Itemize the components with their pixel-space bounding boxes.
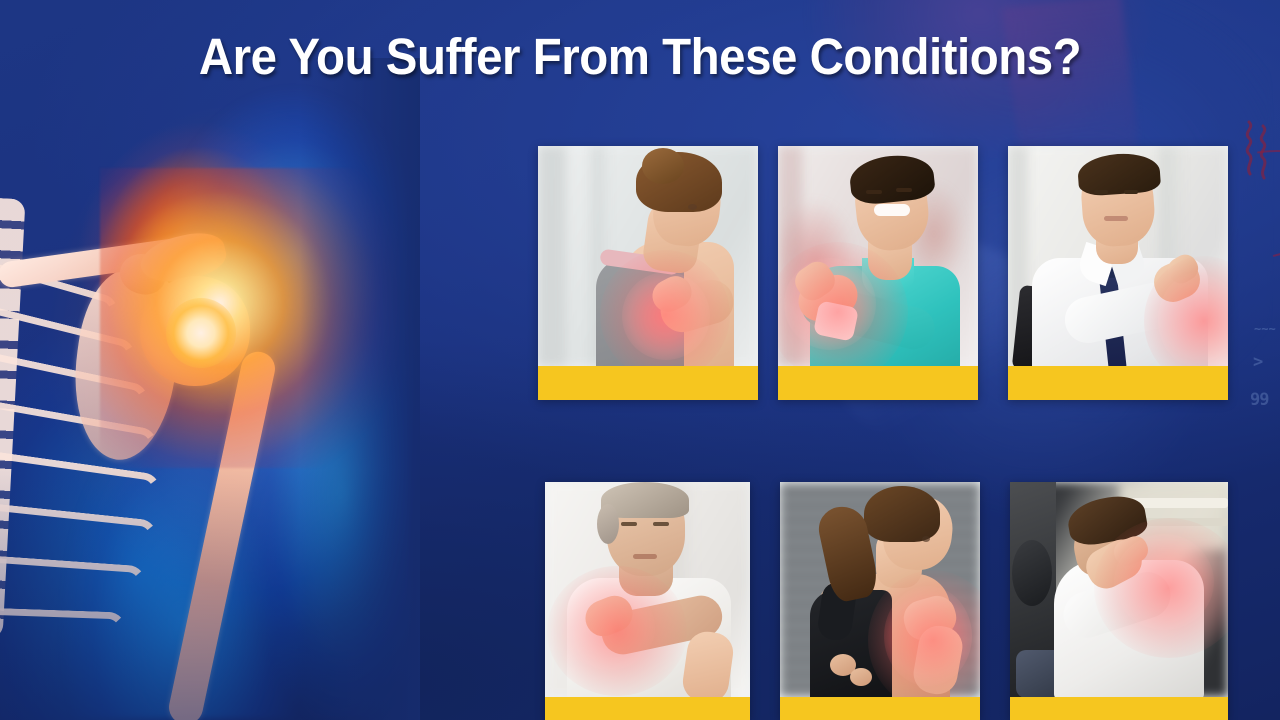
condition-card-2[interactable]	[778, 146, 978, 400]
condition-caption-1	[538, 366, 758, 400]
condition-caption-3	[1008, 366, 1228, 400]
condition-card-5[interactable]	[780, 482, 980, 720]
pain-squiggle-icon	[1243, 120, 1277, 184]
condition-card-4[interactable]	[545, 482, 750, 720]
condition-card-1[interactable]	[538, 146, 758, 400]
slide-canvas: ~~~ > 99 Are You Suffer From These Condi…	[0, 0, 1280, 720]
ghost-number-mark: 99	[1250, 390, 1268, 410]
condition-photo-5	[780, 482, 980, 697]
shoulder-anatomy-illustration	[0, 58, 420, 720]
page-title: Are You Suffer From These Conditions?	[45, 27, 1235, 86]
anatomy-right-fade	[300, 58, 420, 720]
condition-caption-4	[545, 697, 750, 720]
condition-caption-2	[778, 366, 978, 400]
condition-photo-4	[545, 482, 750, 697]
condition-caption-6	[1010, 697, 1228, 720]
condition-photo-1	[538, 146, 758, 366]
condition-caption-5	[780, 697, 980, 720]
ghost-chevron-icon: >	[1253, 352, 1263, 372]
condition-photo-3	[1008, 146, 1228, 366]
condition-card-3[interactable]	[1008, 146, 1228, 400]
condition-card-6[interactable]	[1010, 482, 1228, 720]
condition-photo-6	[1010, 482, 1228, 697]
ghost-wave-mark: ~~~	[1254, 322, 1276, 336]
condition-photo-2	[778, 146, 978, 366]
